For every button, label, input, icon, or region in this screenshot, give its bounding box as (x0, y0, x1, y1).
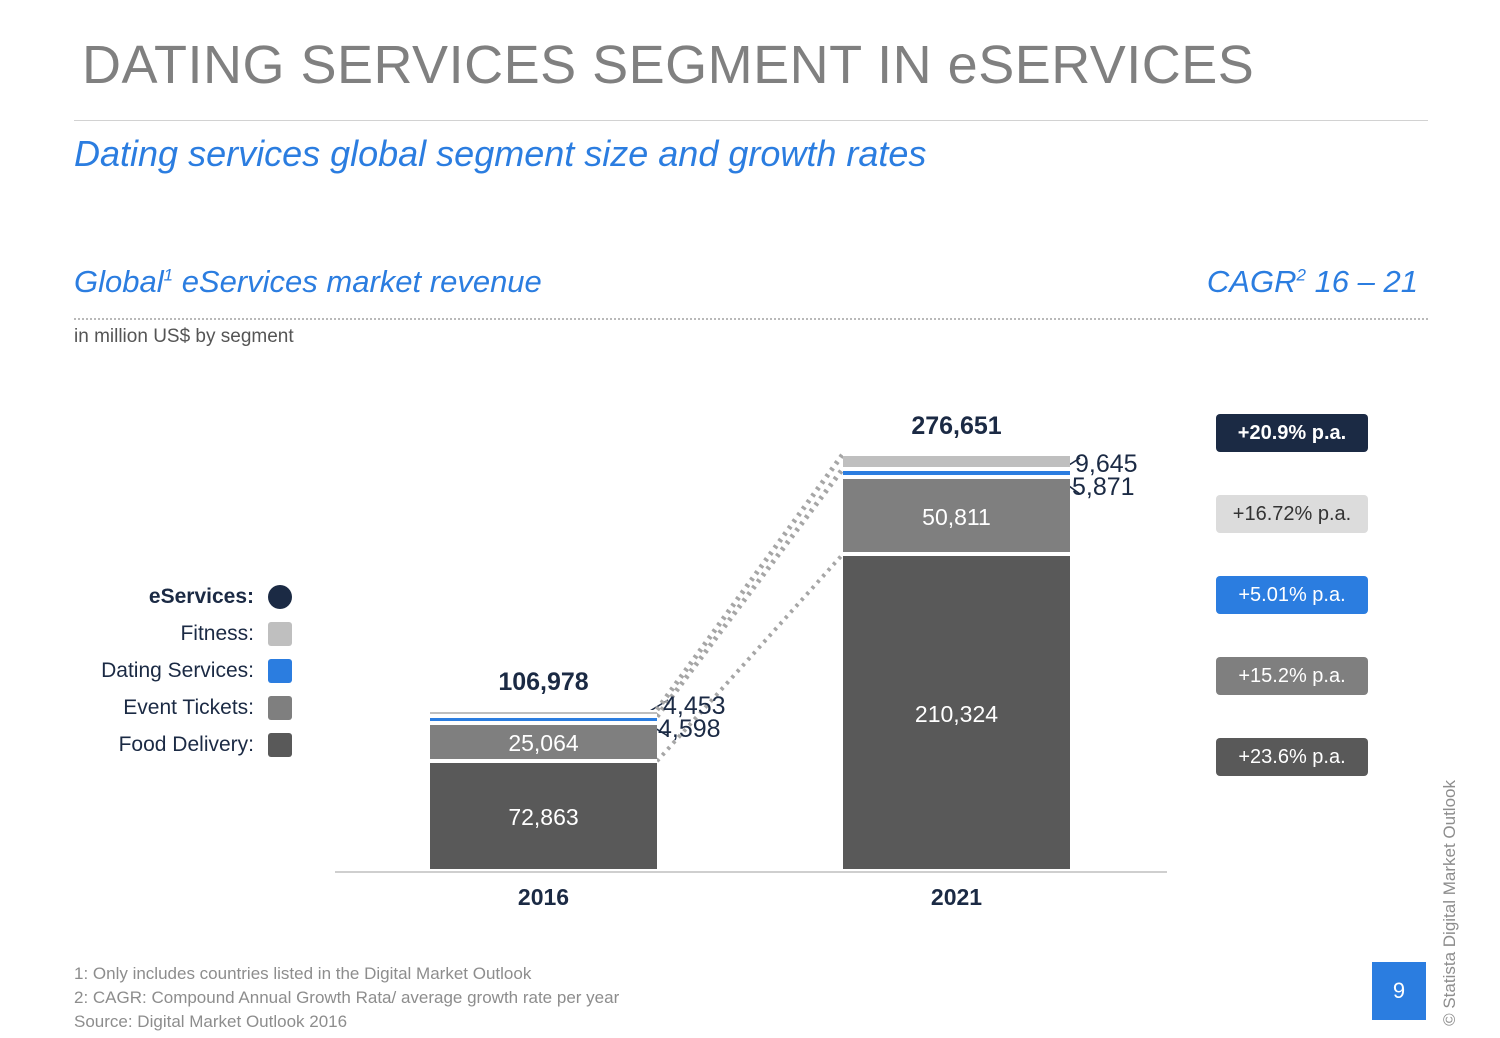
bar-total-label-2016: 106,978 (430, 668, 657, 697)
legend-swatch-icon (268, 696, 292, 720)
chart-title-footnote-ref: 1 (164, 266, 173, 285)
source-line: Source: Digital Market Outlook 2016 (74, 1010, 619, 1034)
legend-item-food-delivery[interactable]: Food Delivery: (60, 726, 292, 763)
legend-item-label: Event Tickets: (123, 696, 268, 720)
bar-segment-fitness[interactable] (843, 454, 1070, 469)
page-number-badge: 9 (1372, 962, 1426, 1020)
cagr-badge-2[interactable]: +5.01% p.a. (1216, 576, 1368, 614)
cagr-badge-3[interactable]: +15.2% p.a. (1216, 657, 1368, 695)
bar-segment-value: 72,863 (430, 804, 657, 831)
x-axis-tick-2016: 2016 (430, 884, 657, 911)
cagr-header-text: CAGR (1207, 264, 1297, 299)
legend-item-label: Fitness: (180, 622, 268, 646)
bar-2021[interactable]: 210,32450,811 (843, 454, 1070, 871)
legend-item-event-tickets[interactable]: Event Tickets: (60, 689, 292, 726)
cagr-header-range: 16 – 21 (1306, 264, 1418, 299)
slide-canvas: DATING SERVICES SEGMENT IN eSERVICES Dat… (0, 0, 1500, 1038)
page-subtitle: Dating services global segment size and … (74, 133, 926, 175)
title-divider (74, 120, 1428, 121)
legend-swatch-icon (268, 659, 292, 683)
legend-item-label: Dating Services: (101, 659, 268, 683)
cagr-badge-column: +20.9% p.a.+16.72% p.a.+5.01% p.a.+15.2%… (1216, 414, 1368, 819)
footnotes: 1: Only includes countries listed in the… (74, 962, 619, 1034)
legend-swatch-icon (268, 733, 292, 757)
bar-segment-value: 25,064 (430, 730, 657, 757)
x-axis-line (335, 871, 1167, 873)
bar-segment-dating-services[interactable] (843, 469, 1070, 478)
chart-header-divider (74, 318, 1428, 320)
footnote-1: 1: Only includes countries listed in the… (74, 962, 619, 986)
copyright-label: © Statista Digital Market Outlook (1440, 780, 1460, 1026)
cagr-header: CAGR2 16 – 21 (1207, 264, 1418, 300)
bar-segment-fitness[interactable] (430, 710, 657, 717)
bar-2016[interactable]: 72,86325,064 (430, 710, 657, 871)
chart-title: Global1 eServices market revenue (74, 264, 542, 300)
cagr-badge-0[interactable]: +20.9% p.a. (1216, 414, 1368, 452)
callout-2021-fitness: 9,645 (1075, 450, 1138, 479)
legend-item-label: eServices: (149, 585, 268, 609)
legend-swatch-icon (268, 585, 292, 609)
callout-2016-dating: 4,598 (658, 715, 721, 744)
chart-units-label: in million US$ by segment (74, 326, 294, 348)
bar-segment-dating-services[interactable] (430, 716, 657, 723)
cagr-header-footnote-ref: 2 (1296, 266, 1305, 285)
legend-item-dating-services[interactable]: Dating Services: (60, 652, 292, 689)
legend-swatch-icon (268, 622, 292, 646)
bar-segment-value: 50,811 (843, 504, 1070, 531)
legend-item-fitness[interactable]: Fitness: (60, 615, 292, 652)
callout-2021-dating: 5,871 (1072, 473, 1135, 502)
cagr-badge-1[interactable]: +16.72% p.a. (1216, 495, 1368, 533)
bar-segment-value: 210,324 (843, 701, 1070, 728)
callout-2016-fitness: 4,453 (663, 692, 726, 721)
bar-total-label-2021: 276,651 (843, 412, 1070, 441)
x-axis-tick-2021: 2021 (843, 884, 1070, 911)
chart-title-text-tail: eServices market revenue (173, 264, 542, 299)
legend-item-label: Food Delivery: (119, 733, 268, 757)
page-title: DATING SERVICES SEGMENT IN eSERVICES (82, 34, 1254, 96)
cagr-badge-4[interactable]: +23.6% p.a. (1216, 738, 1368, 776)
chart-title-text: Global (74, 264, 164, 299)
chart-legend: eServices:Fitness:Dating Services:Event … (60, 578, 292, 763)
footnote-2: 2: CAGR: Compound Annual Growth Rata/ av… (74, 986, 619, 1010)
legend-item-eservices[interactable]: eServices: (60, 578, 292, 615)
